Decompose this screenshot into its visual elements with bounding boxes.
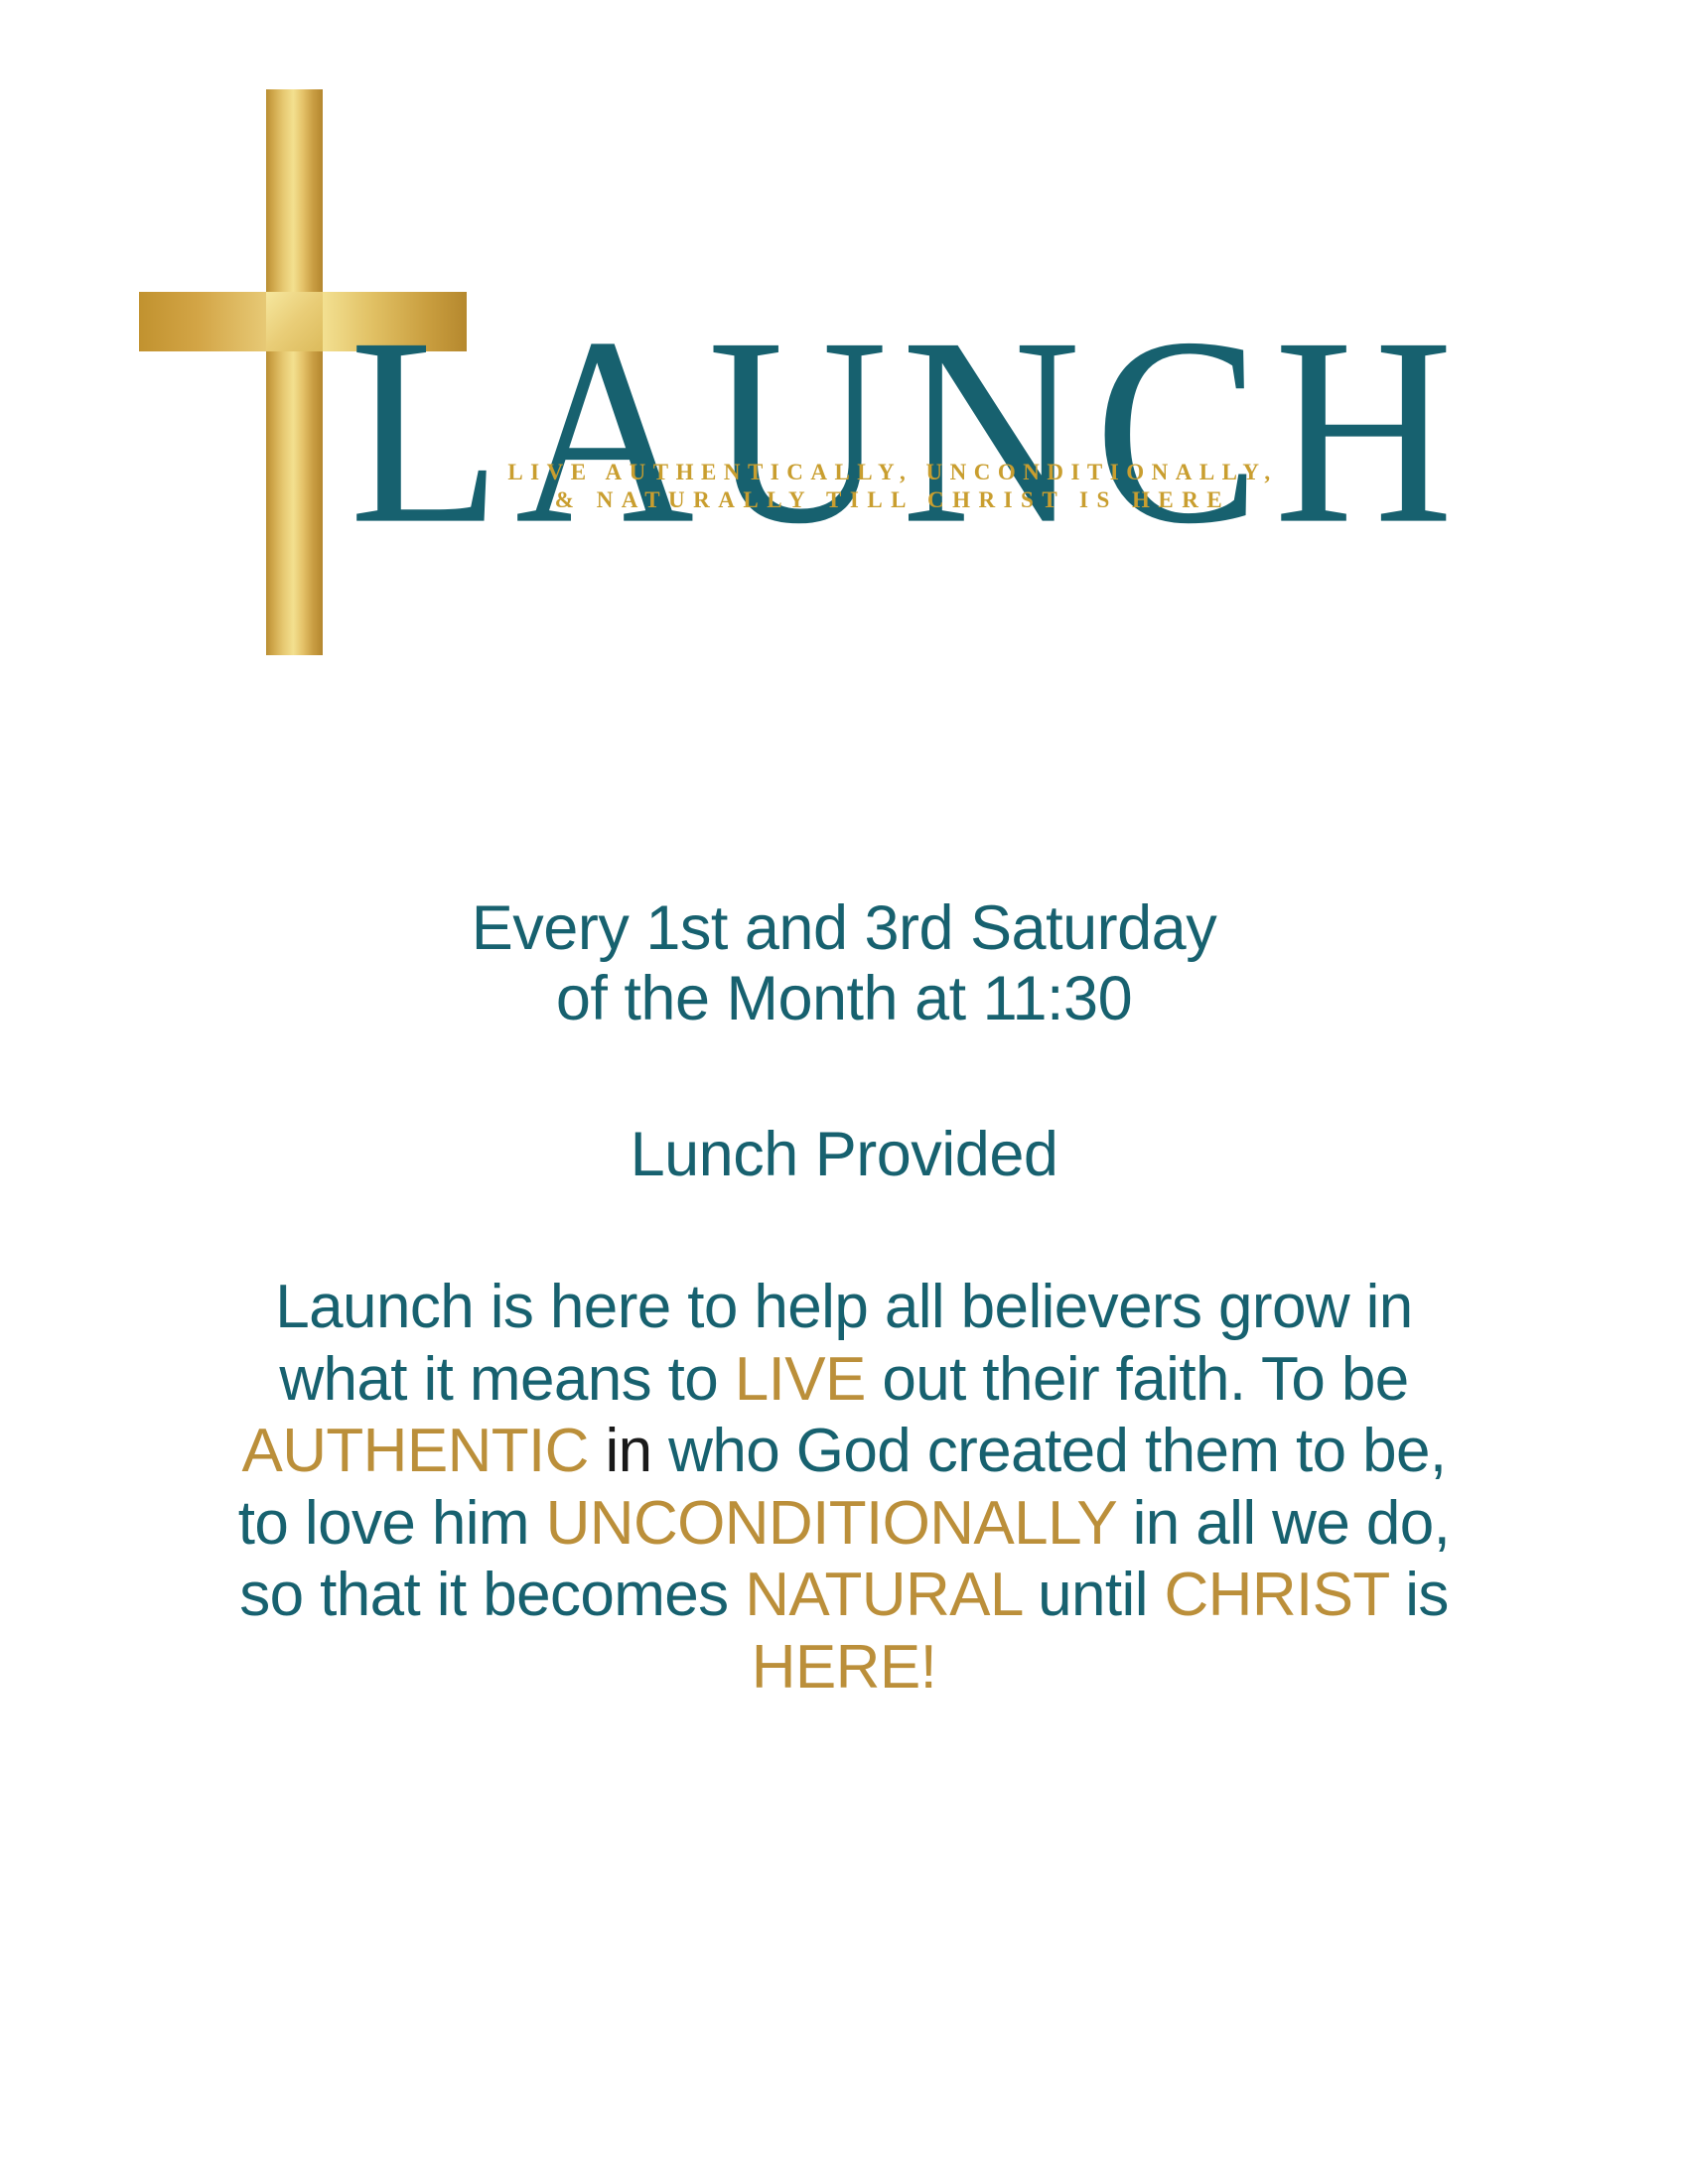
meeting-time-line-1: Every 1st and 3rd Saturday bbox=[0, 893, 1688, 964]
flyer-content: Every 1st and 3rd Saturday of the Month … bbox=[0, 893, 1688, 1704]
mission-text-6: is bbox=[1389, 1561, 1449, 1629]
tagline-line-1: LIVE AUTHENTICALLY, UNCONDITIONALLY, bbox=[507, 460, 1277, 484]
keyword-authentic: AUTHENTIC bbox=[241, 1417, 588, 1485]
logo-block: LAUNCH LIVE AUTHENTICALLY, UNCONDITIONAL… bbox=[0, 0, 1688, 695]
mission-text-5: until bbox=[1022, 1561, 1165, 1629]
launch-wordmark: LAUNCH bbox=[350, 298, 1468, 566]
meeting-time-line-2: of the Month at 11:30 bbox=[0, 964, 1688, 1034]
keyword-natural: NATURAL bbox=[745, 1561, 1021, 1629]
lunch-provided-note: Lunch Provided bbox=[0, 1119, 1688, 1190]
meeting-time: Every 1st and 3rd Saturday of the Month … bbox=[0, 893, 1688, 1033]
keyword-christ: CHRIST bbox=[1165, 1561, 1389, 1629]
cross-center-highlight bbox=[266, 292, 323, 351]
cross-vertical-bar bbox=[266, 89, 323, 655]
mission-statement: Launch is here to help all believers gro… bbox=[228, 1272, 1460, 1704]
keyword-unconditionally: UNCONDITIONALLY bbox=[546, 1489, 1116, 1558]
keyword-live: LIVE bbox=[735, 1345, 866, 1414]
mission-word-in: in bbox=[605, 1417, 651, 1485]
keyword-here: HERE! bbox=[752, 1633, 936, 1702]
tagline-line-2: & NATURALLY TILL CHRIST IS HERE bbox=[401, 486, 1384, 514]
mission-text-2: out their faith. To be bbox=[866, 1345, 1409, 1414]
logo-tagline: LIVE AUTHENTICALLY, UNCONDITIONALLY, & N… bbox=[401, 459, 1384, 514]
